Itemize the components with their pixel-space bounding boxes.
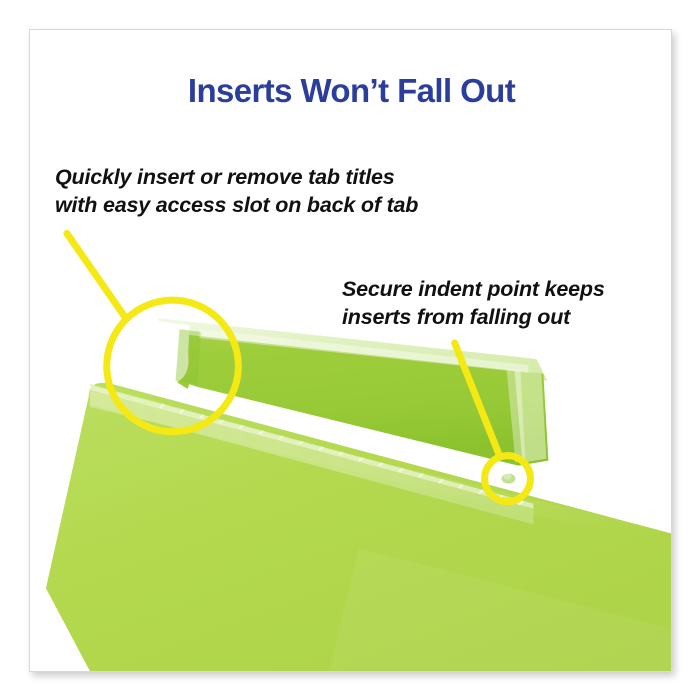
- product-photo-svg: [30, 30, 671, 671]
- callout-label-access-slot: Quickly insert or remove tab titles with…: [55, 163, 418, 219]
- callout-label-indent-point-line1: Secure indent point keeps: [342, 275, 605, 303]
- product-photo: [30, 30, 671, 671]
- callout-label-indent-point-line2: inserts from falling out: [342, 303, 605, 331]
- indent-point-highlight: [504, 474, 512, 480]
- page-title: Inserts Won’t Fall Out: [30, 72, 672, 110]
- callout-label-access-slot-line1: Quickly insert or remove tab titles: [55, 163, 418, 191]
- screenshot-stage: Inserts Won’t Fall Out Quickly insert or…: [0, 0, 700, 700]
- callout-label-indent-point: Secure indent point keeps inserts from f…: [342, 275, 605, 331]
- callout-label-access-slot-line2: with easy access slot on back of tab: [55, 191, 418, 219]
- product-image-card: Inserts Won’t Fall Out Quickly insert or…: [29, 29, 672, 672]
